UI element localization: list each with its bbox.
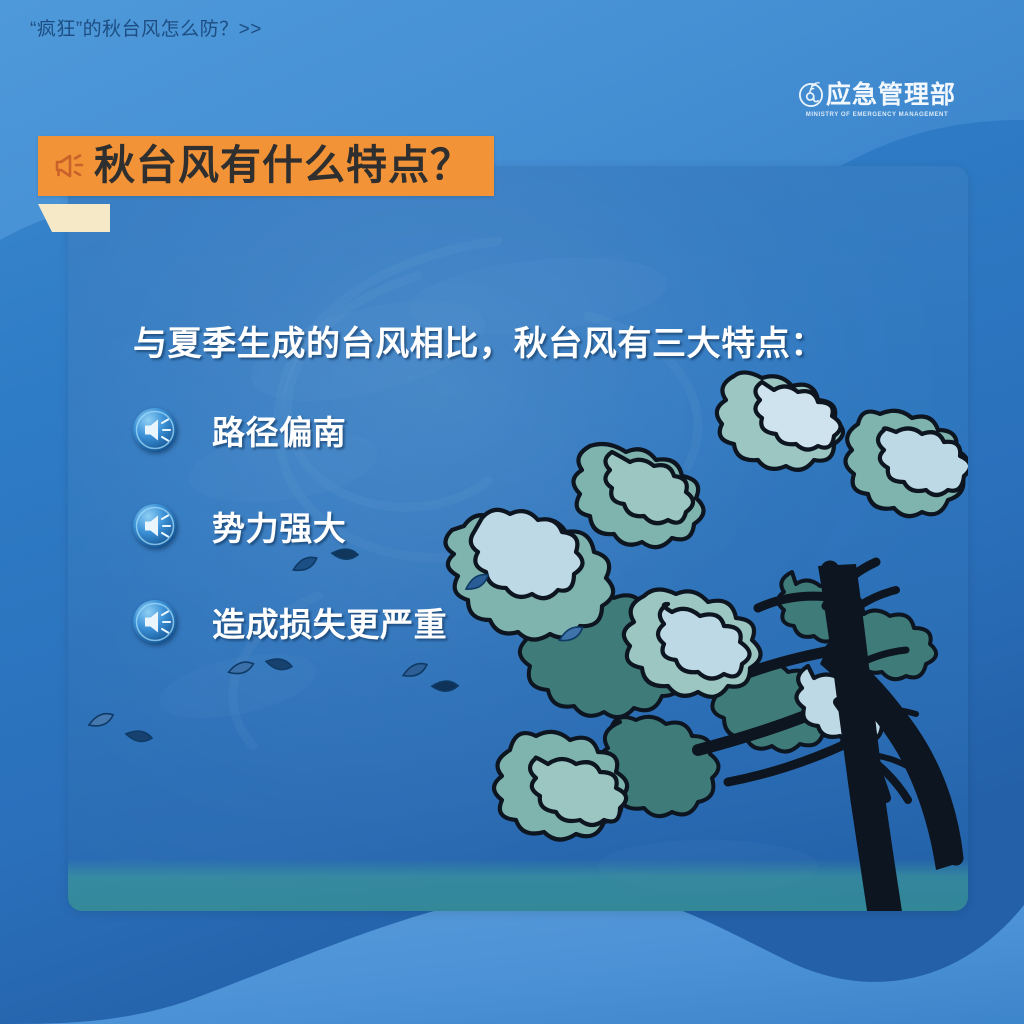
speaker-icon — [132, 503, 178, 549]
ministry-logo: 应急管理部 MINISTRY OF EMERGENCY MANAGEMENT — [798, 82, 956, 118]
list-item: 势力强大 — [132, 500, 447, 552]
logo-name-cn: 应急管理部 — [826, 83, 956, 108]
section-title-banner: 秋台风有什么特点？ — [38, 136, 494, 196]
banner-body: 秋台风有什么特点？ — [38, 136, 494, 196]
eyebrow-headline: “疯狂”的秋台风怎么防？>> — [30, 14, 262, 41]
megaphone-icon — [52, 151, 86, 181]
list-item: 造成损失更严重 — [132, 596, 447, 648]
list-item-label: 势力强大 — [212, 502, 346, 550]
feature-list: 路径偏南 势力强大 造成损失更严重 — [132, 404, 447, 648]
at-wifi-mark-icon — [798, 82, 824, 108]
speaker-icon — [132, 599, 178, 645]
lead-sentence: 与夏季生成的台风相比，秋台风有三大特点： — [133, 316, 825, 365]
logo-name-en: MINISTRY OF EMERGENCY MANAGEMENT — [806, 111, 948, 118]
list-item-label: 路径偏南 — [212, 406, 346, 454]
speaker-icon — [132, 407, 178, 453]
banner-title: 秋台风有什么特点？ — [94, 145, 472, 187]
list-item-label: 造成损失更严重 — [212, 598, 447, 646]
list-item: 路径偏南 — [132, 404, 447, 456]
